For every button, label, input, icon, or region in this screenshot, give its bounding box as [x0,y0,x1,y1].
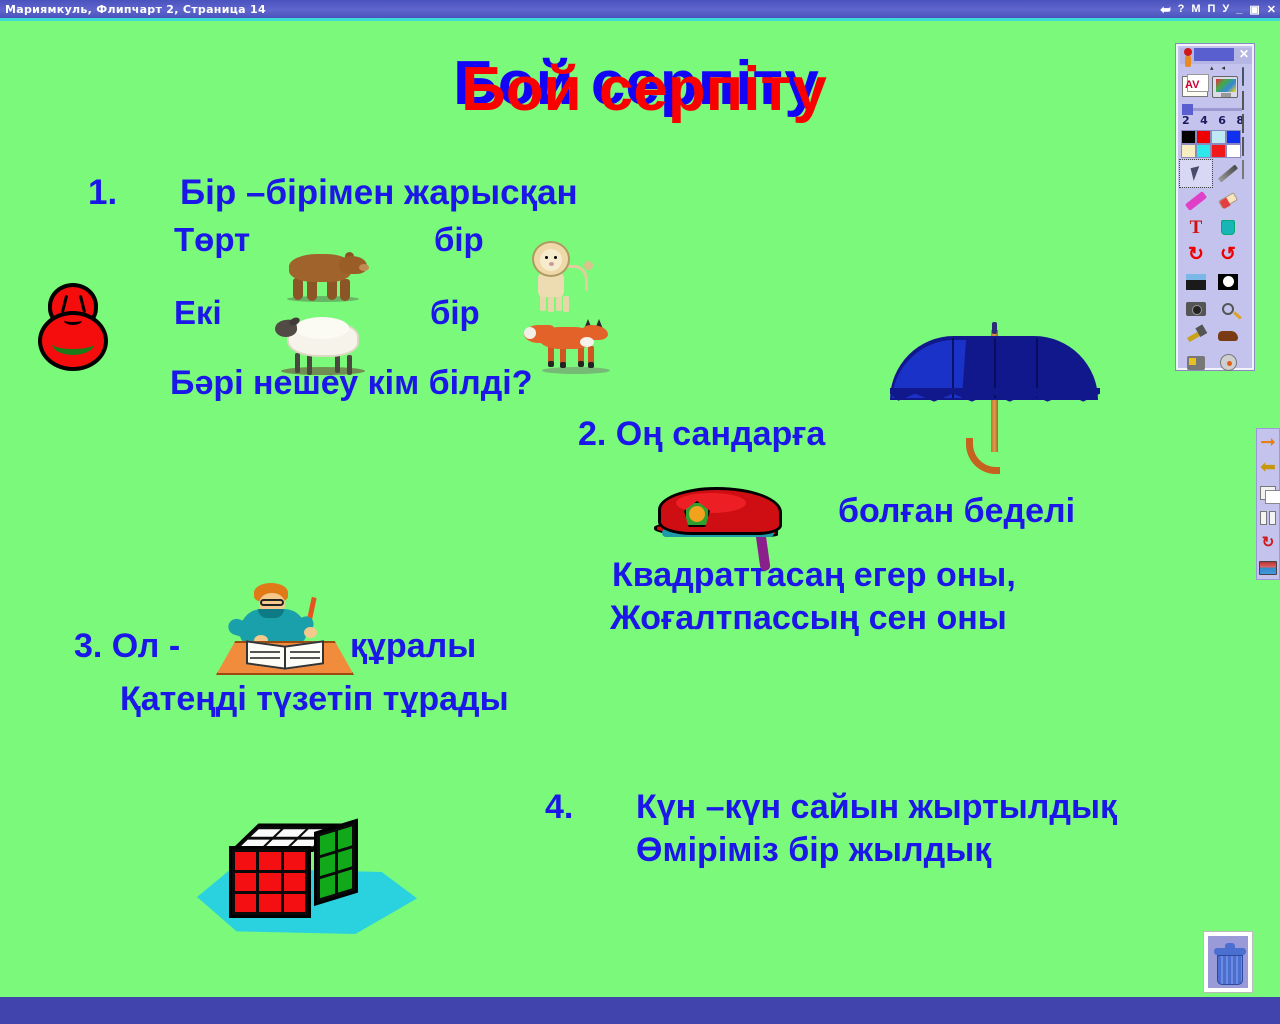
studying-boy-icon[interactable] [216,583,354,679]
question-card-icon [1242,91,1244,110]
riddle-1-number: 1. [88,175,117,211]
menu-u-button[interactable]: У [1222,3,1229,15]
swatch-black[interactable] [1181,130,1196,144]
redo-icon: ↺ [1220,243,1236,266]
page-stack-icon[interactable] [1257,481,1279,504]
lion-icon[interactable] [524,241,598,313]
flipchart-window: Мариямкуль, Флипчарт 2, Страница 14 ➥ ? … [0,0,1280,1024]
disc-icon [1220,354,1237,371]
undo-icon: ↻ [1188,243,1204,266]
tool-palette-title-strip [1194,48,1234,61]
tool-palette-arrows[interactable]: ▴ ◂ [1210,64,1228,72]
riddle-1-line-2: Төрт [174,223,250,257]
hand-icon [1218,331,1238,341]
color-palette[interactable] [1181,130,1243,158]
swatch-blue[interactable] [1226,130,1241,144]
close-button[interactable]: ✕ [1267,3,1276,16]
tick-6: 6 [1218,114,1226,127]
av-stack-icon[interactable]: AV [1182,76,1208,97]
folder-button[interactable] [1180,349,1212,376]
red-cap-icon[interactable] [648,487,794,567]
bear-icon[interactable] [277,248,369,301]
page-navigation-toolbar[interactable]: ➞ ⬅ ↻ [1256,428,1280,580]
tool-palette[interactable]: ✕ ▴ ◂ AV 2 4 6 8 [1176,44,1254,370]
maximize-button[interactable]: ▣ [1249,3,1259,16]
map-button[interactable] [1242,161,1256,179]
riddle-3-line-2: құралы [350,629,476,664]
highlighter-tool-button[interactable] [1180,187,1212,214]
tomato-icon[interactable] [36,283,110,373]
cursor-icon [1190,166,1202,181]
riddle-3-line-1: 3. Ол - [74,629,180,664]
eraser-tool-button[interactable] [1212,187,1244,214]
camera-button[interactable] [1180,295,1212,322]
status-bar [0,997,1280,1024]
minimize-button[interactable]: _ [1236,3,1242,15]
eraser-icon [1218,192,1238,209]
window-tool-button[interactable] [1180,268,1212,295]
redo-icon[interactable]: ➥ [1160,3,1171,16]
two-pages-icon[interactable] [1257,506,1279,529]
tools-button[interactable] [1180,322,1212,349]
text-tool-button[interactable]: T [1180,214,1212,241]
tool-palette-side-column[interactable] [1242,68,1256,179]
paint-bucket-button[interactable] [1212,214,1244,241]
whiteboard-button[interactable] [1242,138,1256,156]
folder-icon [1187,356,1205,370]
page-title: Бой серпіту Бой серпіту [0,53,1280,133]
notepad-button[interactable] [1242,68,1256,86]
map-icon [1242,160,1244,179]
question-card-2-icon [1242,114,1244,133]
whiteboard-icon [1242,137,1244,156]
trash-can-icon[interactable] [1204,932,1252,992]
spotlight-button[interactable] [1212,268,1244,295]
pen-tool-button[interactable] [1212,160,1244,187]
sheep-icon[interactable] [265,315,377,375]
window-icon [1186,274,1206,290]
highlighter-icon [1185,191,1207,211]
person-balloon-icon [1181,48,1196,72]
cursor-tool-button[interactable] [1180,160,1212,187]
notepad-icon [1242,67,1244,86]
question-card-button[interactable] [1242,92,1256,110]
paint-bucket-icon [1221,220,1235,235]
stroke-width-slider[interactable] [1182,104,1242,114]
umbrella-icon[interactable] [890,326,1100,506]
redo-button[interactable]: ↺ [1212,241,1244,268]
riddle-3-line-3: Қатеңді түзетіп тұрады [120,682,509,717]
pen-icon [1218,165,1238,183]
disc-button[interactable] [1212,349,1244,376]
riddle-4-line-2: Өміріміз бір жылдық [636,833,991,868]
rotate-page-icon[interactable]: ↻ [1257,531,1279,554]
fox-icon[interactable] [524,317,620,375]
monitor-icon[interactable] [1212,76,1238,98]
riddle-2-line-1: 2. Оң сандарға [578,417,825,452]
riddle-4-line-1: Күн –күн сайын жыртылдық [636,790,1117,825]
menu-m-button[interactable]: М [1191,3,1200,15]
tool-grid[interactable]: T ↻ ↺ [1180,160,1244,376]
hand-button[interactable] [1212,322,1244,349]
spotlight-icon [1218,274,1238,290]
riddle-1-line-1: Бір –бірімен жарысқан [180,175,578,211]
magnifier-button[interactable] [1212,295,1244,322]
tool-palette-close-icon[interactable]: ✕ [1239,47,1249,61]
window-titlebar: Мариямкуль, Флипчарт 2, Страница 14 [0,0,1280,18]
window-title: Мариямкуль, Флипчарт 2, Страница 14 [5,3,266,16]
swatch-red-2[interactable] [1211,144,1226,158]
tick-4: 4 [1200,114,1208,127]
stroke-width-ticks: 2 4 6 8 [1182,114,1244,127]
tick-2: 2 [1182,114,1190,127]
text-tool-icon: T [1190,217,1203,239]
swatch-cyan[interactable] [1196,144,1211,158]
riddle-4-number: 4. [545,790,573,825]
next-page-arrow-icon[interactable]: ➞ [1257,431,1279,454]
riddle-1-line-5: бір [430,296,480,330]
swatch-cream[interactable] [1181,144,1196,158]
menu-p-button[interactable]: П [1208,3,1216,15]
flipchart-canvas[interactable]: Бой серпіту Бой серпіту 1. Бір –бірімен … [0,21,1280,997]
riddle-1-line-4: Екі [174,296,222,330]
riddle-2-line-4: Жоғалтпассың сен оны [610,601,1007,636]
rubiks-cube-icon[interactable] [175,806,425,941]
prev-page-arrow-icon[interactable]: ⬅ [1257,456,1279,479]
question-card-2-button[interactable] [1242,115,1256,133]
books-icon[interactable] [1257,556,1279,579]
riddle-1-line-3: бір [434,223,484,257]
swatch-white[interactable] [1226,144,1241,158]
magnifier-icon [1222,303,1234,315]
undo-button[interactable]: ↻ [1180,241,1212,268]
camera-icon [1186,302,1206,316]
window-controls[interactable]: ➥ ? М П У _ ▣ ✕ [1160,0,1276,18]
hammer-icon [1187,329,1205,342]
page-title-red: Бой серпіту [4,59,1280,121]
swatch-lightblue[interactable] [1211,130,1226,144]
swatch-red[interactable] [1196,130,1211,144]
help-button[interactable]: ? [1178,3,1185,15]
